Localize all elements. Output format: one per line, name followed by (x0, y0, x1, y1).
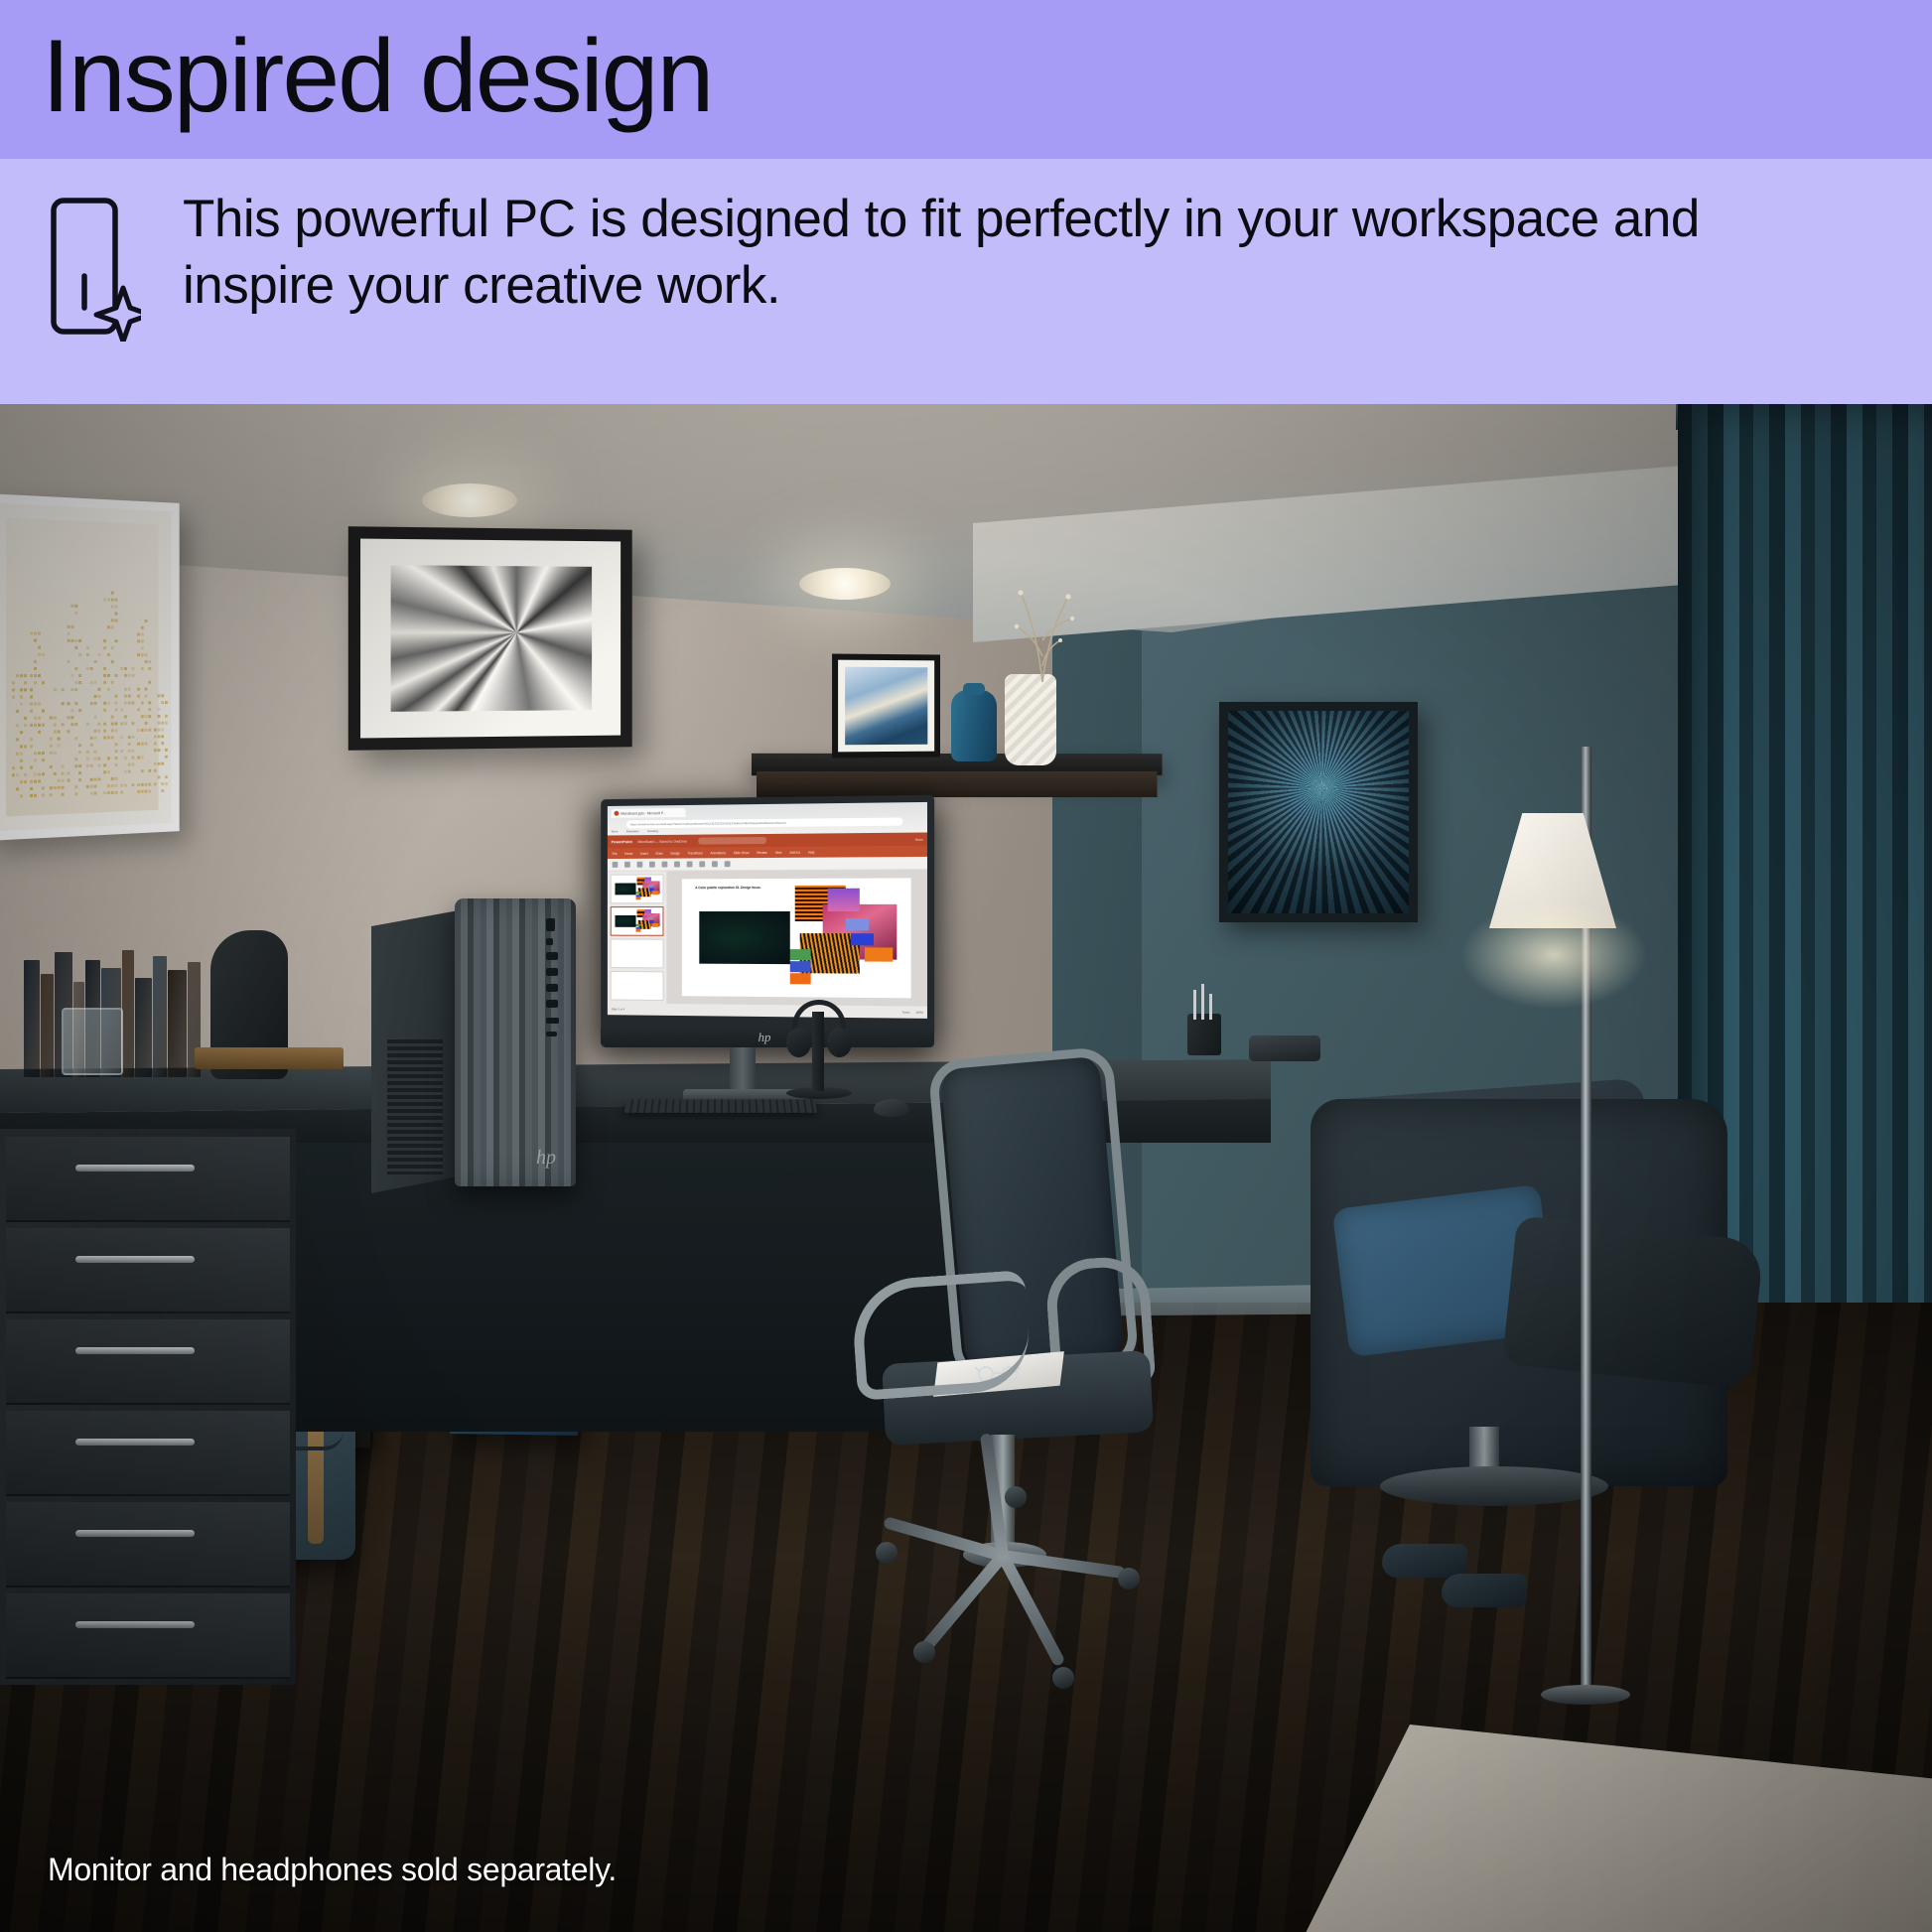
pc-tower-vent (387, 1039, 443, 1174)
ribbon-tab-insert[interactable]: Insert (640, 851, 648, 855)
collage-block (790, 961, 811, 972)
pc-tower-sparkle-icon (46, 193, 141, 342)
book (41, 974, 54, 1077)
ribbon-tab-design[interactable]: Design (670, 851, 680, 855)
tab-title: MicroBoard.pptx - Microsoft P... (621, 811, 665, 815)
monitor-stand (730, 1047, 756, 1095)
book (168, 970, 187, 1077)
monitor-bezel-chin: hp (601, 1028, 934, 1047)
lamp-light-glow (1459, 900, 1648, 1010)
teal-ceramic-vase (951, 690, 997, 761)
layout-icon[interactable] (649, 862, 655, 868)
glass-vessel (62, 1008, 123, 1075)
collage-block (652, 892, 658, 895)
monitor-screen: MicroBoard.pptx - Microsoft P... https:/… (608, 802, 927, 1019)
status-bar: Slide 2 of 4 Notes 100% (608, 1003, 927, 1019)
ribbon-tab-add-ins[interactable]: Add-ins (789, 850, 800, 854)
collage-block (790, 949, 811, 960)
ribbon-tab-draw[interactable]: Draw (655, 851, 662, 855)
ribbon-tab-animations[interactable]: Animations (711, 851, 726, 855)
sd-card-slot (546, 1018, 559, 1024)
recessed-light (799, 568, 891, 600)
powerpoint-favicon (615, 811, 620, 816)
ribbon-tab-transitions[interactable]: Transitions (688, 851, 703, 855)
bookmark-item[interactable]: Education (626, 829, 639, 833)
slide-thumbnail[interactable] (611, 971, 664, 1001)
hp-logo-monitor: hp (759, 1030, 771, 1045)
find-icon[interactable] (725, 861, 731, 867)
document-name: MicroBoard — Saved to OneDrive (637, 839, 686, 843)
lounge-chair-base (1380, 1466, 1608, 1506)
workspace-photo: hp MicroBoard.pptx - Microsoft P... http… (0, 404, 1932, 1932)
notes-button[interactable]: Notes (902, 1010, 909, 1014)
collage-block (616, 915, 636, 927)
usb-c-port (546, 1032, 557, 1036)
ribbon-tab-slide-show[interactable]: Slide Show (734, 851, 750, 855)
subheader-text: This powerful PC is designed to fit perf… (183, 187, 1831, 320)
wireless-keyboard (624, 1099, 817, 1113)
paste-icon[interactable] (624, 862, 630, 868)
browser-tab[interactable]: MicroBoard.pptx - Microsoft P... (612, 808, 686, 818)
collage-block (616, 883, 636, 895)
bookmark-item[interactable]: Work (612, 829, 619, 833)
header-band: Inspired design (0, 0, 1932, 159)
ribbon-tab-review[interactable]: Review (757, 850, 766, 854)
mesh-office-chair (814, 1059, 1311, 1814)
slide-thumbnail[interactable] (611, 874, 664, 903)
slide-title: A Color palette exploration 03. Design f… (695, 886, 760, 890)
recessed-light (422, 483, 517, 517)
collage-block (790, 973, 811, 984)
ribbon-tab-home[interactable]: Home (624, 851, 632, 855)
collage-block (644, 909, 651, 915)
new-slide-icon[interactable] (637, 862, 643, 868)
hp-logo-tower: hp (536, 1147, 568, 1169)
usb-port (546, 984, 558, 992)
usb-port (546, 952, 558, 960)
power-button (546, 918, 555, 931)
app-name: PowerPoint (612, 839, 632, 844)
vintage-car-watercolor (832, 654, 940, 759)
collage-block (700, 911, 790, 963)
ribbon-tab-file[interactable]: File (613, 852, 618, 856)
collage-block (635, 897, 640, 899)
book (122, 950, 134, 1077)
browser-chrome: MicroBoard.pptx - Microsoft P... https:/… (608, 802, 927, 836)
gold-pixel-cityscape-print (0, 493, 180, 841)
disclaimer-text: Monitor and headphones sold separately. (48, 1852, 617, 1888)
slide-stage: A Color palette exploration 03. Design f… (666, 870, 927, 1007)
align-icon[interactable] (699, 861, 705, 867)
slide-thumbnail[interactable] (611, 906, 664, 936)
slide-counter: Slide 2 of 4 (612, 1007, 624, 1011)
usb-port (546, 1000, 558, 1008)
drawer-unit (0, 1129, 296, 1685)
current-slide[interactable]: A Color palette exploration 03. Design f… (682, 878, 911, 998)
white-textured-vase (1005, 674, 1056, 765)
bookmarks-bar: Work Education Reading (612, 829, 658, 833)
zoom-level[interactable]: 100% (916, 1011, 923, 1015)
collage-block (827, 888, 860, 911)
collage-block (865, 947, 893, 962)
book (24, 960, 40, 1077)
slide-thumbnail[interactable] (611, 939, 664, 969)
shapes-icon[interactable] (712, 861, 718, 867)
shelf-edge (757, 771, 1158, 797)
usb-port (546, 968, 558, 976)
pc-tower-port-column (542, 918, 564, 1107)
pen-cup (1187, 1014, 1221, 1055)
font-color-icon[interactable] (687, 861, 693, 867)
slide-thumbnail-panel (608, 872, 666, 1004)
collage-block (846, 919, 869, 931)
shoe (1382, 1544, 1467, 1578)
marketing-card: Inspired design This powerful PC is desi… (0, 0, 1932, 1932)
collage-block (851, 933, 874, 945)
floor-lamp-foot (1541, 1685, 1630, 1705)
radial-dome-architecture-print (1219, 702, 1418, 922)
ribbon-tab-view[interactable]: View (775, 850, 782, 854)
url-text: https://onedrive.live.com/edit.aspx?acti… (630, 821, 786, 827)
book (135, 978, 152, 1077)
subheader-band: This powerful PC is designed to fit perf… (0, 159, 1932, 404)
search-input[interactable] (699, 837, 767, 845)
address-bar[interactable]: https://onedrive.live.com/edit.aspx?acti… (626, 817, 902, 828)
dried-branches (999, 571, 1088, 682)
audio-jack (546, 938, 553, 945)
shoe (1442, 1574, 1527, 1607)
undo-icon[interactable] (613, 862, 619, 868)
webcam (1249, 1035, 1320, 1061)
ribbon-tab-help[interactable]: Help (808, 850, 815, 854)
wood-tray (195, 1047, 344, 1069)
collage-block (635, 929, 640, 931)
leather-throw (1502, 1215, 1764, 1389)
bookmark-item[interactable]: Reading (647, 829, 658, 833)
book (153, 956, 167, 1077)
italic-icon[interactable] (674, 862, 680, 868)
share-button[interactable]: Share (915, 837, 923, 841)
page-title: Inspired design (42, 20, 712, 133)
hp-monitor: MicroBoard.pptx - Microsoft P... https:/… (601, 795, 934, 1036)
collage-block (644, 878, 651, 884)
upward-skyscraper-photo (348, 526, 632, 751)
collage-block (652, 923, 658, 926)
bold-icon[interactable] (662, 862, 668, 868)
over-ear-headphones (786, 1000, 852, 1061)
